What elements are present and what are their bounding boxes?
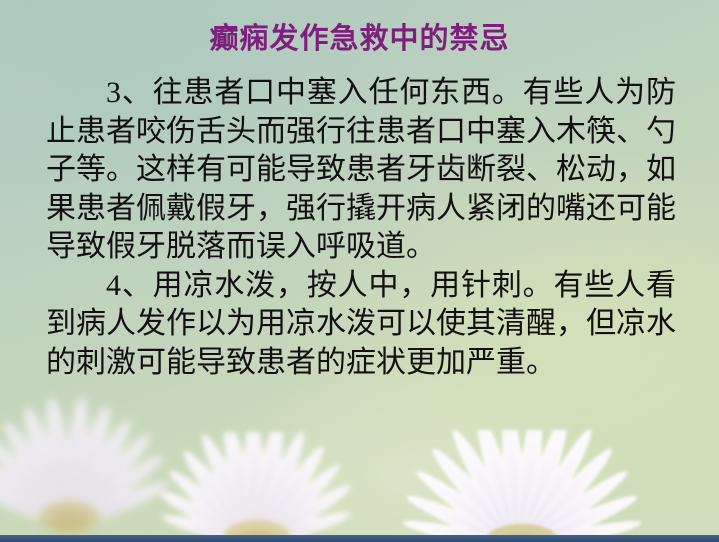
- body-paragraph-3: 3、往患者口中塞入任何东西。有些人为防止患者咬伤舌头而强行往患者口中塞入木筷、勺…: [46, 74, 676, 267]
- daisy-flower-right-icon: [372, 430, 672, 542]
- daisy-flower-middle-icon: [132, 432, 382, 542]
- presentation-slide: 癫痫发作急救中的禁忌 3、往患者口中塞入任何东西。有些人为防止患者咬伤舌头而强行…: [0, 0, 719, 542]
- bottom-accent-bar: [0, 535, 719, 542]
- slide-title: 癫痫发作急救中的禁忌: [0, 22, 719, 56]
- slide-body: 3、往患者口中塞入任何东西。有些人为防止患者咬伤舌头而强行往患者口中塞入木筷、勺…: [46, 74, 676, 382]
- daisy-flower-left-icon: [0, 392, 184, 542]
- body-paragraph-4: 4、用凉水泼，按人中，用针刺。有些人看到病人发作以为用凉水泼可以使其清醒，但凉水…: [46, 267, 676, 383]
